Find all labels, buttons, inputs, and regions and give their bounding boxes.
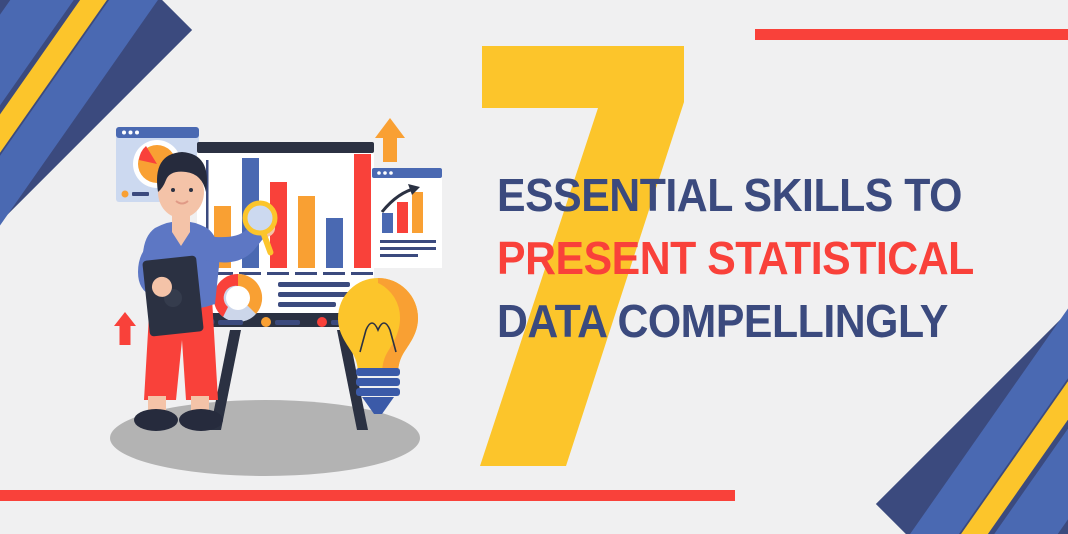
growth-bar-2	[397, 202, 408, 233]
whiteboard-top-rail	[197, 142, 374, 153]
person-eye-left	[171, 188, 175, 192]
growth-chart-card	[372, 168, 442, 268]
person-eye-right	[189, 188, 193, 192]
arrow-up-orange-icon	[375, 118, 405, 162]
arrow-up-red-icon	[114, 312, 136, 345]
illustration-woman-presenting-statistics	[60, 100, 480, 490]
person-shoe-left	[134, 409, 178, 431]
headline-line-3: DATA COMPELLINGLY	[497, 290, 981, 353]
headline-block: ESSENTIAL SKILLS TO PRESENT STATISTICAL …	[497, 164, 1017, 353]
growth-bar-1	[382, 213, 393, 233]
whiteboard-donut-chart	[214, 274, 262, 322]
lightbulb-base-ring-2	[356, 378, 400, 386]
pie-legend-dot-orange	[122, 191, 129, 198]
bar-4	[298, 196, 315, 268]
headline-line-2: PRESENT STATISTICAL	[497, 227, 981, 290]
decor-red-rule-bottom	[0, 490, 735, 501]
decor-red-rule-top	[755, 29, 1068, 40]
legend-dot-orange	[261, 317, 271, 327]
bar-6	[354, 154, 371, 268]
headline-line-1: ESSENTIAL SKILLS TO	[497, 164, 981, 227]
growth-bar-3	[412, 192, 423, 233]
lightbulb-base-ring-3	[356, 388, 400, 396]
whiteboard-easel	[197, 142, 374, 430]
banner-root: ESSENTIAL SKILLS TO PRESENT STATISTICAL …	[0, 0, 1068, 534]
person-shoe-right	[179, 409, 223, 431]
bar-5	[326, 218, 343, 268]
lightbulb-base-ring-1	[356, 368, 400, 376]
legend-dot-red	[317, 317, 327, 327]
person-hand-left	[152, 277, 172, 297]
